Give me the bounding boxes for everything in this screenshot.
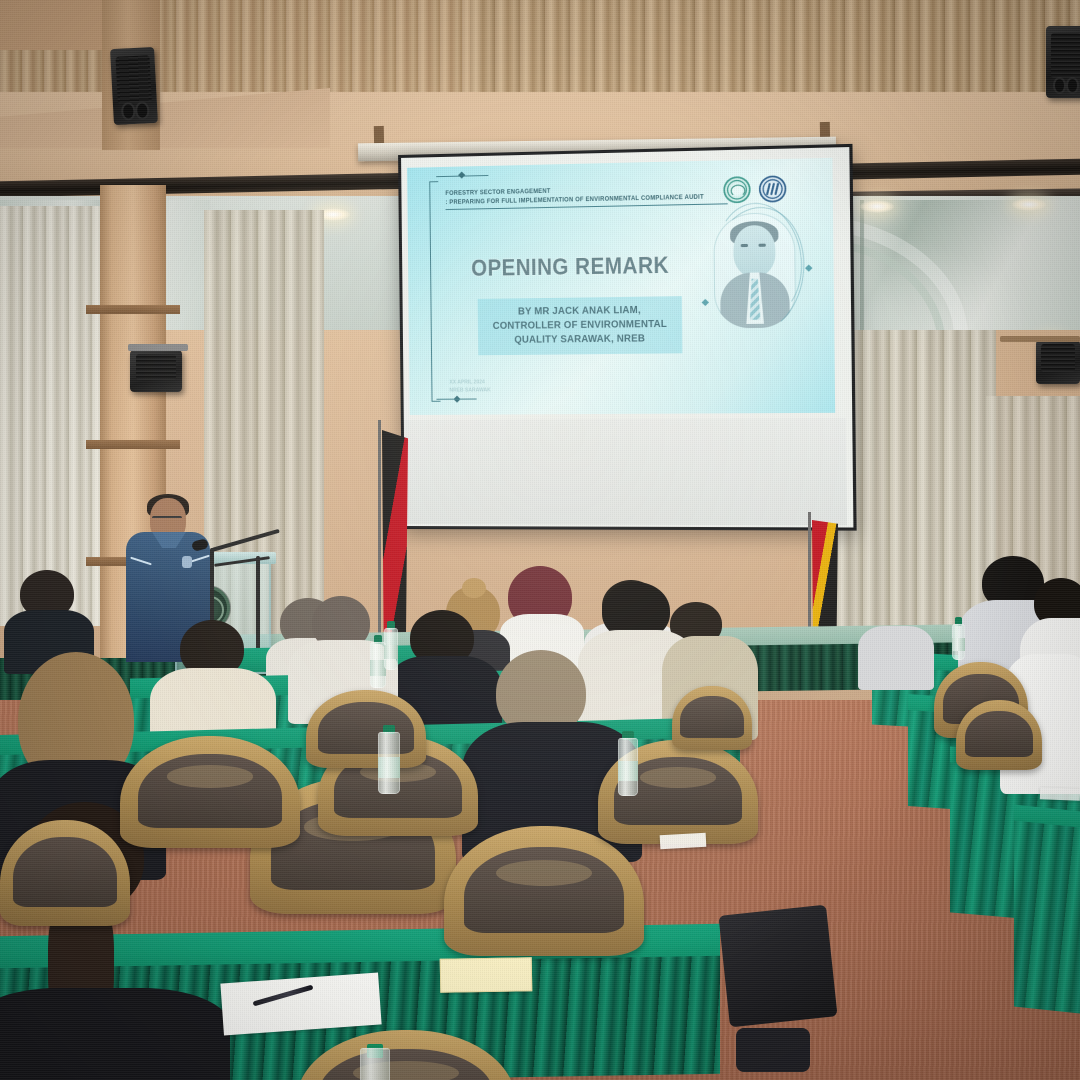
water-bottle-5[interactable] bbox=[952, 624, 965, 660]
slide-title: OPENING REMARK bbox=[462, 251, 678, 282]
slide-diamond-top bbox=[458, 172, 465, 179]
water-bottle-4[interactable] bbox=[618, 738, 638, 796]
wall-speaker-left bbox=[110, 47, 158, 125]
backpack-on-floor[interactable] bbox=[718, 905, 837, 1028]
secondary-agency-logo bbox=[759, 175, 787, 202]
wall-speaker-right-lower bbox=[1036, 340, 1080, 384]
screen-blank-area bbox=[404, 418, 847, 525]
portrait-diamond-right bbox=[805, 264, 812, 271]
audience-person-red-hair bbox=[500, 566, 576, 658]
presenter-eyeglasses bbox=[152, 516, 182, 526]
shoe-on-floor bbox=[736, 1028, 810, 1072]
banquet-chair-6[interactable] bbox=[0, 820, 130, 926]
slide-footer-line-2: NREB SARAWAK bbox=[449, 386, 632, 395]
banquet-chair-right-3[interactable] bbox=[672, 686, 752, 750]
water-bottle-3[interactable] bbox=[378, 732, 400, 794]
ceiling-downlight-2 bbox=[860, 200, 894, 213]
banquet-chair-3[interactable] bbox=[120, 736, 300, 848]
pillar-speaker-bracket bbox=[128, 344, 188, 351]
pillar-speaker bbox=[130, 350, 182, 392]
conference-hall-photo: FORESTRY SECTOR ENGAGEMENT : PREPARING F… bbox=[0, 0, 1080, 1080]
projection-screen: FORESTRY SECTOR ENGAGEMENT : PREPARING F… bbox=[398, 144, 857, 531]
slide-subtitle-line-3: QUALITY SARAWAK, NREB bbox=[483, 331, 676, 347]
slide-footer: XX APRIL 2024 NREB SARAWAK bbox=[449, 378, 632, 394]
audience-person-right-4 bbox=[858, 596, 930, 682]
wall-speaker-right-bracket bbox=[1000, 336, 1080, 342]
water-bottle-6[interactable] bbox=[360, 1048, 390, 1080]
audience-person-dark-suit-center bbox=[462, 650, 602, 840]
paper-sheet-2[interactable] bbox=[660, 833, 707, 849]
audience-person-dark-suit-far-left bbox=[12, 570, 84, 660]
slide-tick-bottom bbox=[436, 399, 476, 400]
slide-subtitle-line-2: CONTROLLER OF ENVIRONMENTAL bbox=[483, 317, 676, 333]
slide-corner-frame bbox=[429, 181, 440, 402]
slide-subtitle-box: BY MR JACK ANAK LIAM, CONTROLLER OF ENVI… bbox=[478, 296, 683, 355]
banquet-chair-right-2[interactable] bbox=[956, 700, 1042, 770]
slide-header: FORESTRY SECTOR ENGAGEMENT : PREPARING F… bbox=[445, 182, 756, 210]
portrait-diamond-left bbox=[702, 299, 709, 306]
yellow-notepad[interactable] bbox=[440, 957, 533, 993]
ceiling-downlight-3 bbox=[1012, 198, 1046, 211]
banquet-chair-8[interactable] bbox=[306, 690, 426, 768]
table-right-4-skirt bbox=[1014, 821, 1080, 1014]
flag-left bbox=[382, 430, 408, 640]
banquet-chair-7[interactable] bbox=[296, 1030, 516, 1080]
water-bottle-2[interactable] bbox=[384, 628, 398, 670]
paper-sheet-3[interactable] bbox=[1040, 787, 1080, 800]
paper-sheet[interactable] bbox=[220, 973, 381, 1036]
presentation-slide: FORESTRY SECTOR ENGAGEMENT : PREPARING F… bbox=[407, 158, 835, 415]
wall-speaker-right bbox=[1046, 26, 1080, 98]
banquet-chair-2[interactable] bbox=[444, 826, 644, 956]
